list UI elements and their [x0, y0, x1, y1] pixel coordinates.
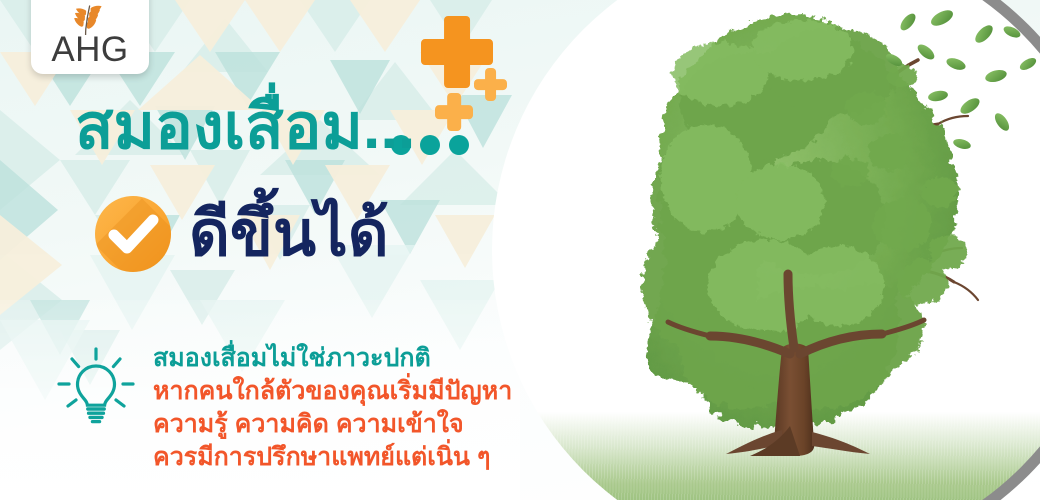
- headline-line-2-row: ดีขึ้นได้: [95, 196, 389, 272]
- brand-logo-text: AHG: [51, 32, 128, 67]
- check-mark-glyph: [95, 196, 171, 272]
- plus-cross-icon-medium: [435, 93, 473, 131]
- info-heading: สมองเสื่อมไม่ใช่ภาวะปกติ: [153, 342, 512, 375]
- head-shaped-tree-illustration: [550, 0, 1040, 468]
- info-line-2: ความรู้ ความคิด ความเข้าใจ: [153, 408, 512, 441]
- info-line-3: ควรมีการปรึกษาแพทย์แต่เนิ่น ๆ: [153, 441, 512, 474]
- plus-cross-icon-small: [474, 68, 507, 101]
- check-circle-icon: [95, 196, 171, 272]
- info-line-1: หากคนใกล้ตัวของคุณเริ่มมีปัญหา: [153, 375, 512, 408]
- headline-line-2: ดีขึ้นได้: [189, 203, 389, 266]
- brand-logo[interactable]: AHG: [31, 0, 149, 74]
- lightbulb-idea-icon: [55, 346, 137, 428]
- dot-2: [420, 135, 440, 155]
- artwork-circle-panel: [492, 0, 1040, 500]
- headline-line-1: สมองเสื่อม...: [75, 96, 415, 159]
- info-block: สมองเสื่อมไม่ใช่ภาวะปกติ หากคนใกล้ตัวของ…: [55, 342, 512, 474]
- dot-3: [449, 135, 469, 155]
- info-text-lines: สมองเสื่อมไม่ใช่ภาวะปกติ หากคนใกล้ตัวของ…: [153, 342, 512, 474]
- promo-banner: AHG สมองเสื่อม... ดีขึ้นได้: [0, 0, 1040, 500]
